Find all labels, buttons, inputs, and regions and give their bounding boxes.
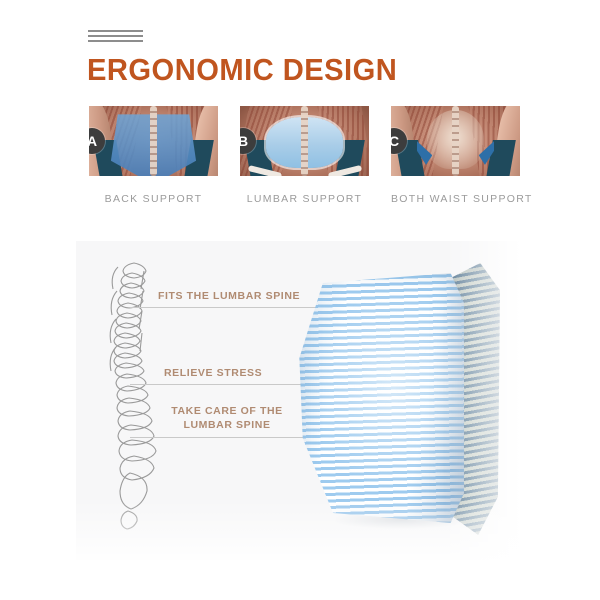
feature-take-care-lumbar-spine: TAKE CARE OF THE LUMBAR SPINE <box>162 404 292 432</box>
back-support-photo: A <box>89 106 218 176</box>
feature-label-3-line1: TAKE CARE OF THE <box>162 404 292 418</box>
feature-fits-lumbar-spine: FITS THE LUMBAR SPINE <box>158 289 300 303</box>
card-label-back-support: BACK SUPPORT <box>89 193 218 205</box>
page-title: ERGONOMIC DESIGN <box>87 52 397 88</box>
page-header: ERGONOMIC DESIGN <box>0 0 600 100</box>
rule-line-2 <box>88 35 143 37</box>
product-feature-panel: FITS THE LUMBAR SPINE RELIEVE STRESS TAK… <box>76 241 535 560</box>
support-card-both-waist[interactable]: C BOTH WAIST SUPPORT <box>391 106 520 205</box>
product-cushion-image <box>288 255 538 540</box>
feature-label-2: RELIEVE STRESS <box>164 367 262 379</box>
card-label-both-waist-support: BOTH WAIST SUPPORT <box>391 193 520 205</box>
lumbar-support-photo: B <box>240 106 369 176</box>
back-anatomy-illustration <box>89 106 218 176</box>
waist-anatomy-illustration <box>391 106 520 176</box>
rule-line-3 <box>88 40 143 42</box>
lumbar-anatomy-illustration <box>240 106 369 176</box>
both-waist-support-photo: C <box>391 106 520 176</box>
title-rule-decoration <box>88 30 143 42</box>
cushion-face-shading <box>296 273 464 523</box>
support-card-row: A BACK SUPPORT B LUMBAR SUPPORT <box>0 106 600 216</box>
card-label-lumbar-support: LUMBAR SUPPORT <box>240 193 369 205</box>
support-card-back[interactable]: A BACK SUPPORT <box>89 106 218 205</box>
feature-label-3-line2: LUMBAR SPINE <box>162 418 292 432</box>
rule-line-1 <box>88 30 143 32</box>
feature-relieve-stress: RELIEVE STRESS <box>164 366 262 380</box>
support-card-lumbar[interactable]: B LUMBAR SUPPORT <box>240 106 369 205</box>
feature-label-1: FITS THE LUMBAR SPINE <box>158 290 300 302</box>
